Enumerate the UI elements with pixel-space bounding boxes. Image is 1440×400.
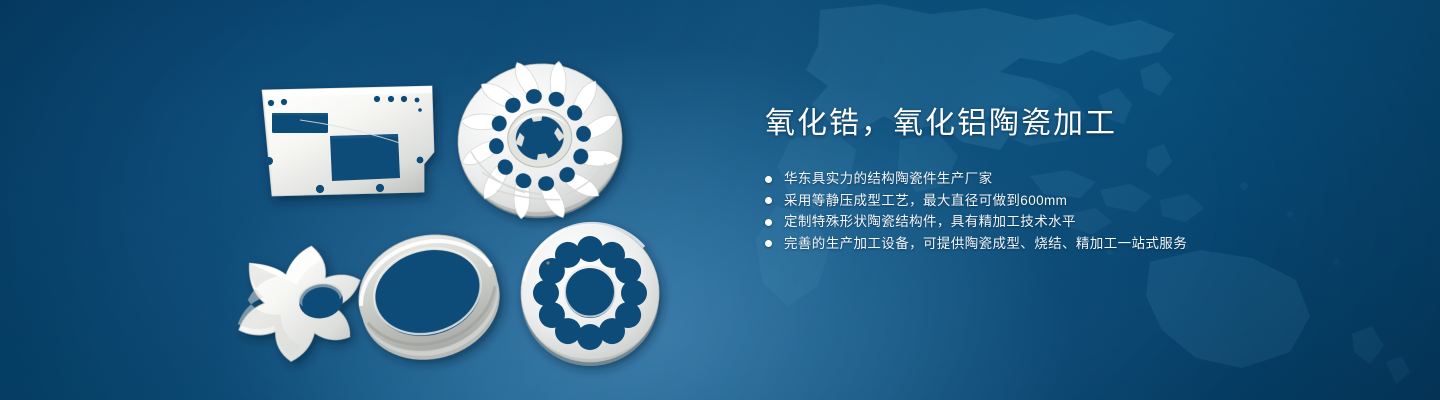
list-item: 定制特殊形状陶瓷结构件，具有精加工技术水平 <box>765 211 1385 233</box>
product-ceramic-impeller-wheel <box>448 49 633 230</box>
product-ceramic-perforated-disc <box>521 223 659 366</box>
banner-copy: 氧化锆，氧化铝陶瓷加工 华东具实力的结构陶瓷件生产厂家 采用等静压成型工艺，最大… <box>765 104 1385 255</box>
feature-list: 华东具实力的结构陶瓷件生产厂家 采用等静压成型工艺，最大直径可做到600mm 定… <box>765 168 1385 255</box>
product-ceramic-mounting-plate <box>262 86 434 196</box>
bullet-dot-icon <box>765 197 772 204</box>
product-ceramic-ring-seal <box>345 219 513 376</box>
list-item: 华东具实力的结构陶瓷件生产厂家 <box>765 168 1385 190</box>
product-ceramic-cross-part <box>227 239 372 370</box>
feature-text: 采用等静压成型工艺，最大直径可做到600mm <box>784 190 1067 212</box>
product-image-group <box>0 0 720 400</box>
feature-text: 定制特殊形状陶瓷结构件，具有精加工技术水平 <box>784 211 1076 233</box>
bullet-dot-icon <box>765 219 772 226</box>
list-item: 完善的生产加工设备，可提供陶瓷成型、烧结、精加工一站式服务 <box>765 233 1385 255</box>
page-title: 氧化锆，氧化铝陶瓷加工 <box>765 104 1385 144</box>
feature-text: 完善的生产加工设备，可提供陶瓷成型、烧结、精加工一站式服务 <box>784 233 1187 255</box>
list-item: 采用等静压成型工艺，最大直径可做到600mm <box>765 190 1385 212</box>
bullet-dot-icon <box>765 176 772 183</box>
bullet-dot-icon <box>765 240 772 247</box>
feature-text: 华东具实力的结构陶瓷件生产厂家 <box>784 168 993 190</box>
hero-banner: 氧化锆，氧化铝陶瓷加工 华东具实力的结构陶瓷件生产厂家 采用等静压成型工艺，最大… <box>0 0 1440 400</box>
